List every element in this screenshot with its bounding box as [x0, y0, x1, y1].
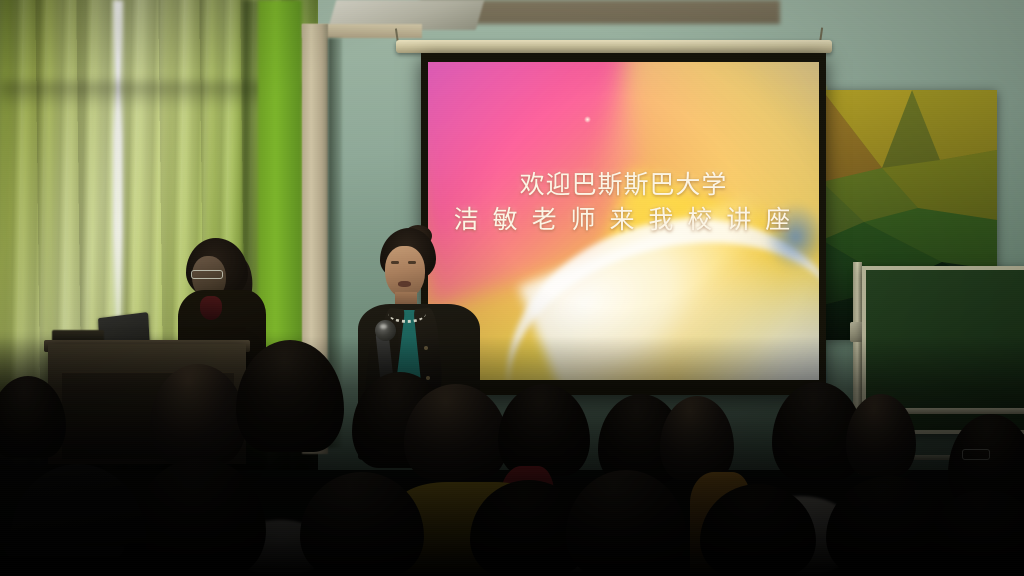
projection-screen-surface: 欢迎巴斯斯巴大学 洁 敏 老 师 来 我 校 讲 座 — [428, 62, 819, 380]
daylight-gap-core — [116, 20, 120, 350]
operator-collar — [200, 296, 222, 320]
speaker-eye-right — [408, 261, 416, 264]
audience-shadow-gradient — [0, 336, 1024, 576]
slide-vignette — [428, 62, 819, 380]
pearl-necklace — [388, 304, 426, 323]
screen-roller-case — [396, 40, 832, 53]
microphone-highlight — [380, 324, 387, 329]
speaker-eye-left — [391, 261, 399, 264]
eyeglasses-icon — [191, 270, 223, 279]
speaker-mouth — [398, 281, 411, 287]
audience-rows — [0, 336, 1024, 576]
photo-scene: 欢迎巴斯斯巴大学 洁 敏 老 师 来 我 校 讲 座 — [0, 0, 1024, 576]
speaker-face — [385, 246, 425, 298]
